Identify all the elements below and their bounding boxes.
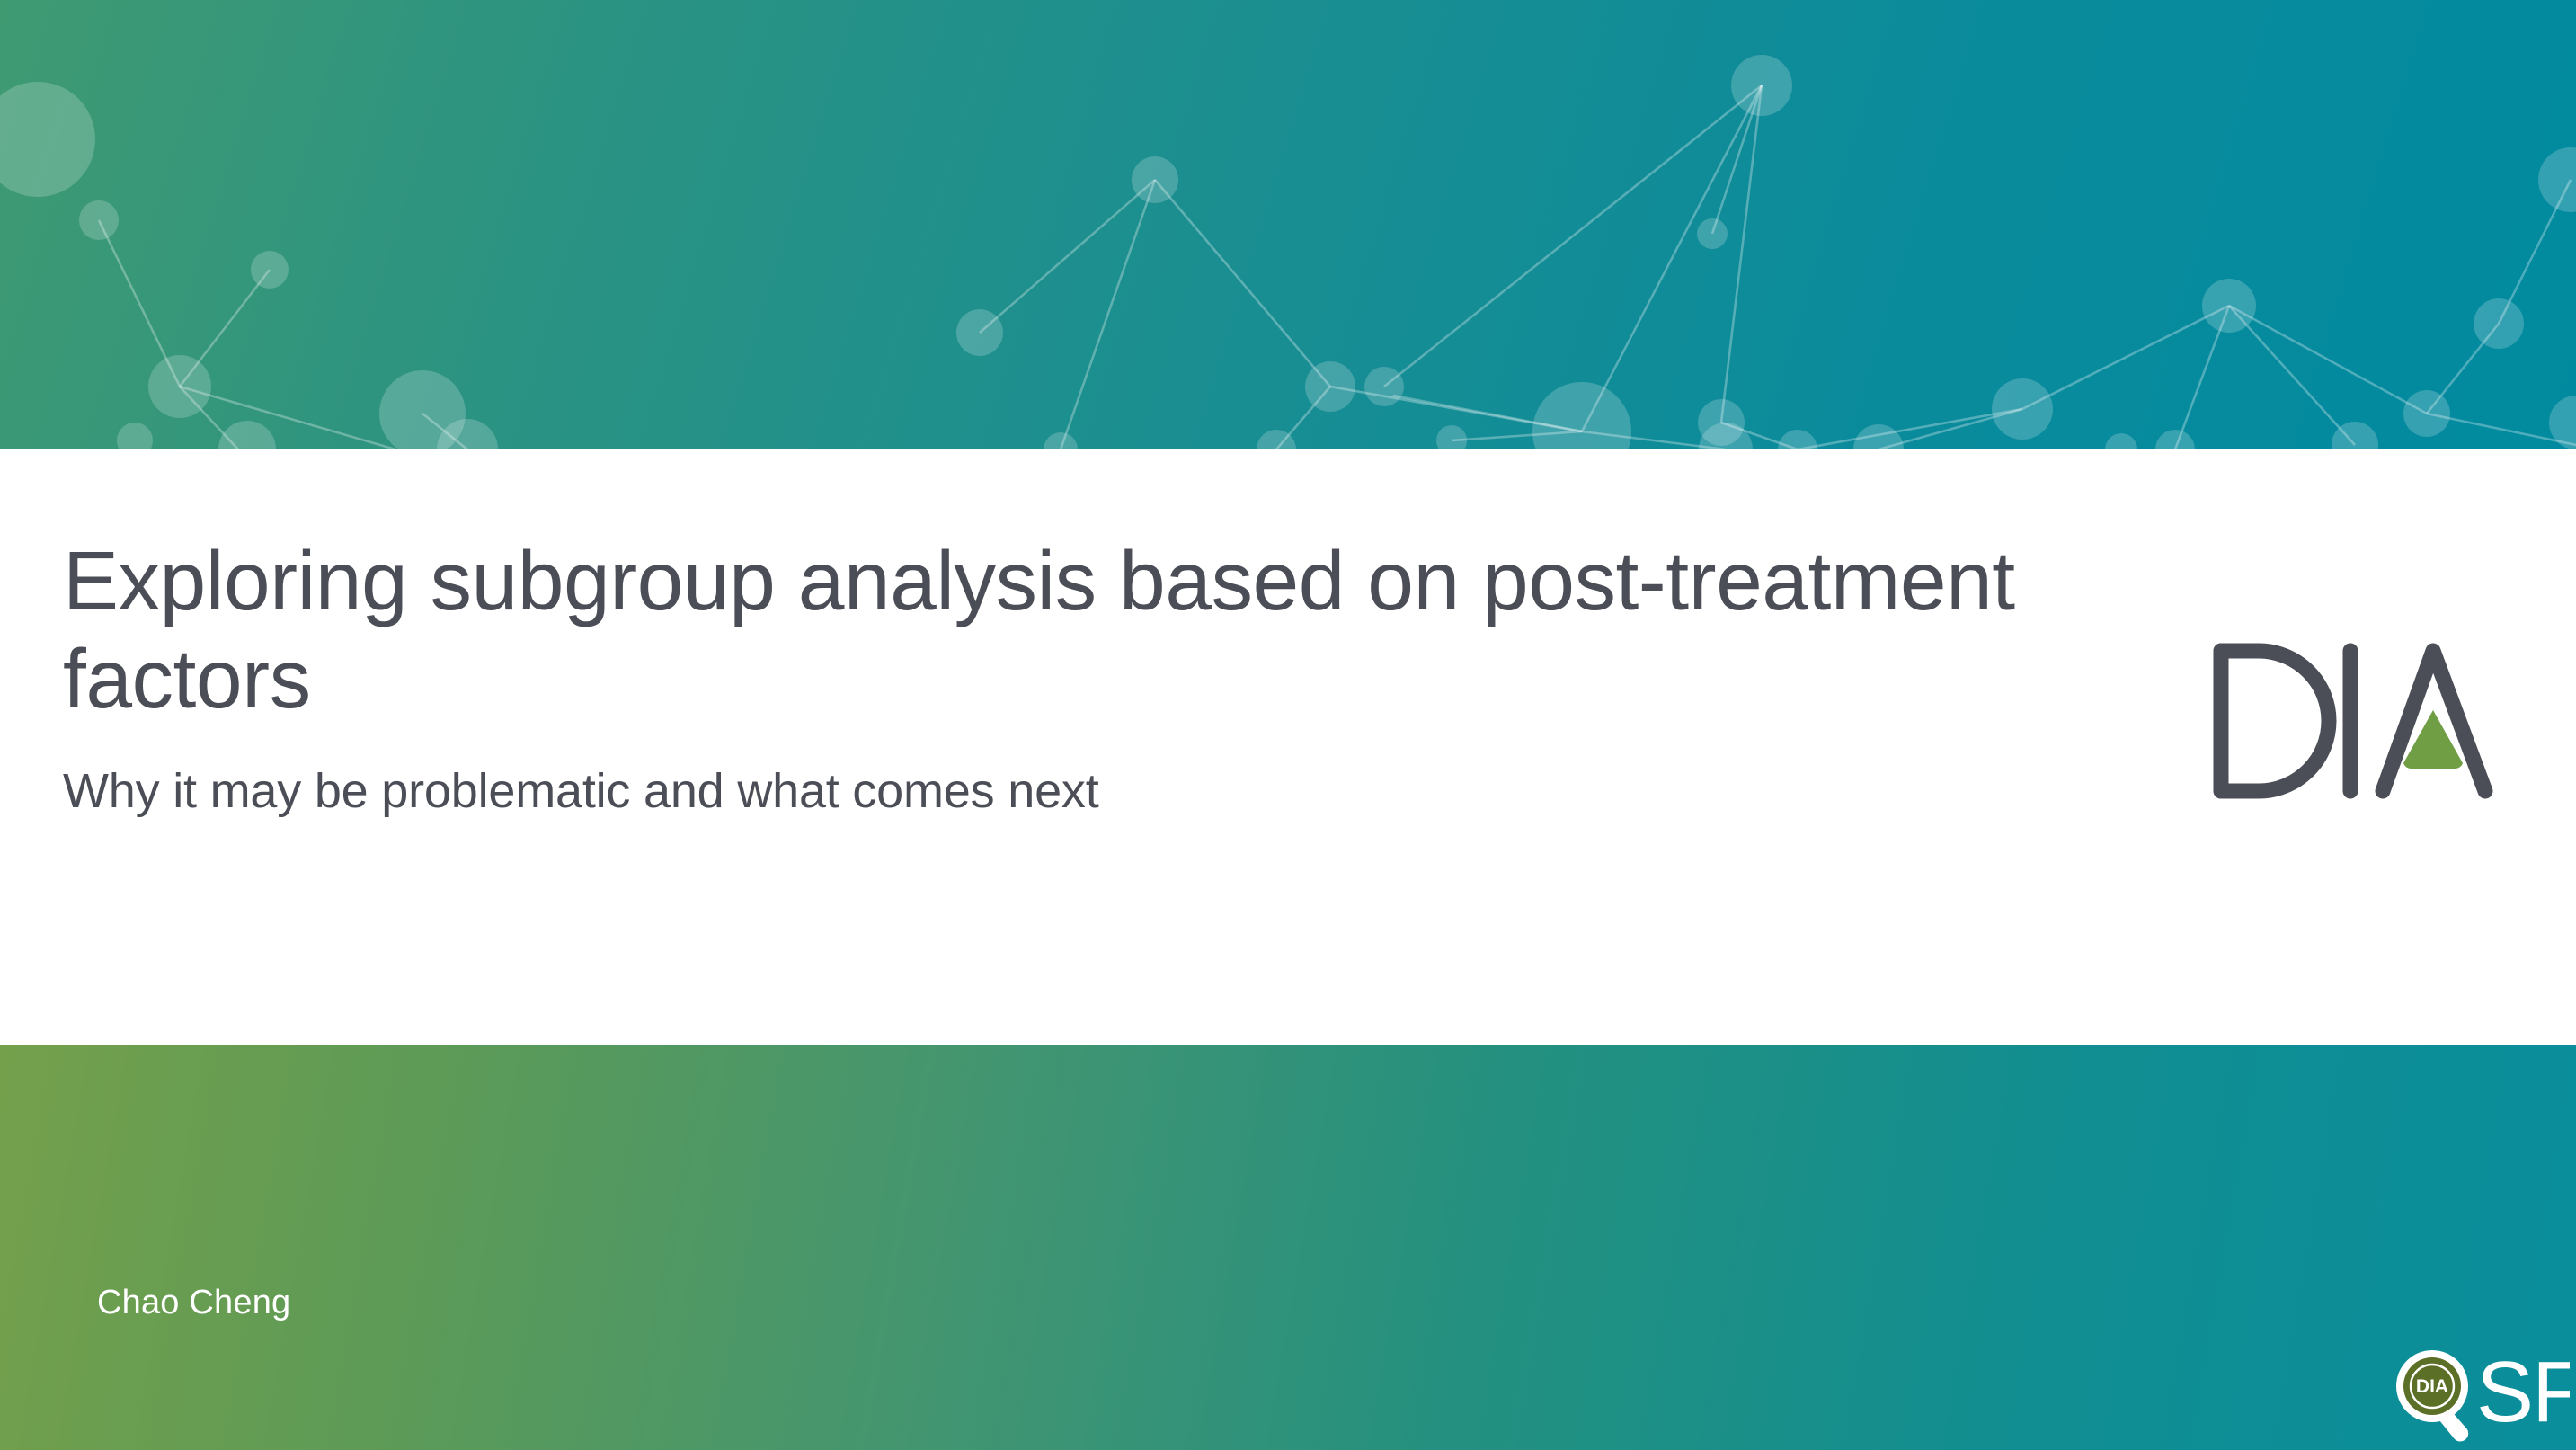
- slide-subtitle: Why it may be problematic and what comes…: [63, 728, 2130, 821]
- network-pattern-graphic: [0, 0, 2576, 449]
- slide-body: Exploring subgroup analysis based on pos…: [0, 449, 2576, 1045]
- title-slide: Exploring subgroup analysis based on pos…: [0, 0, 2576, 1450]
- slide-title: Exploring subgroup analysis based on pos…: [63, 532, 2130, 728]
- dia-logo: [2207, 640, 2517, 802]
- qsf-badge-text: DIA: [2416, 1376, 2448, 1397]
- dia-logo-letter-d: [2221, 651, 2329, 791]
- magnifying-glass-icon: DIA: [2396, 1350, 2468, 1441]
- bottom-banner: [0, 1045, 2576, 1450]
- author-name: Chao Cheng: [97, 1284, 290, 1322]
- qsf-logo: DIA SF: [2394, 1337, 2570, 1443]
- top-banner: [0, 0, 2576, 449]
- qsf-logo-text: SF: [2476, 1344, 2570, 1440]
- title-block: Exploring subgroup analysis based on pos…: [63, 532, 2130, 820]
